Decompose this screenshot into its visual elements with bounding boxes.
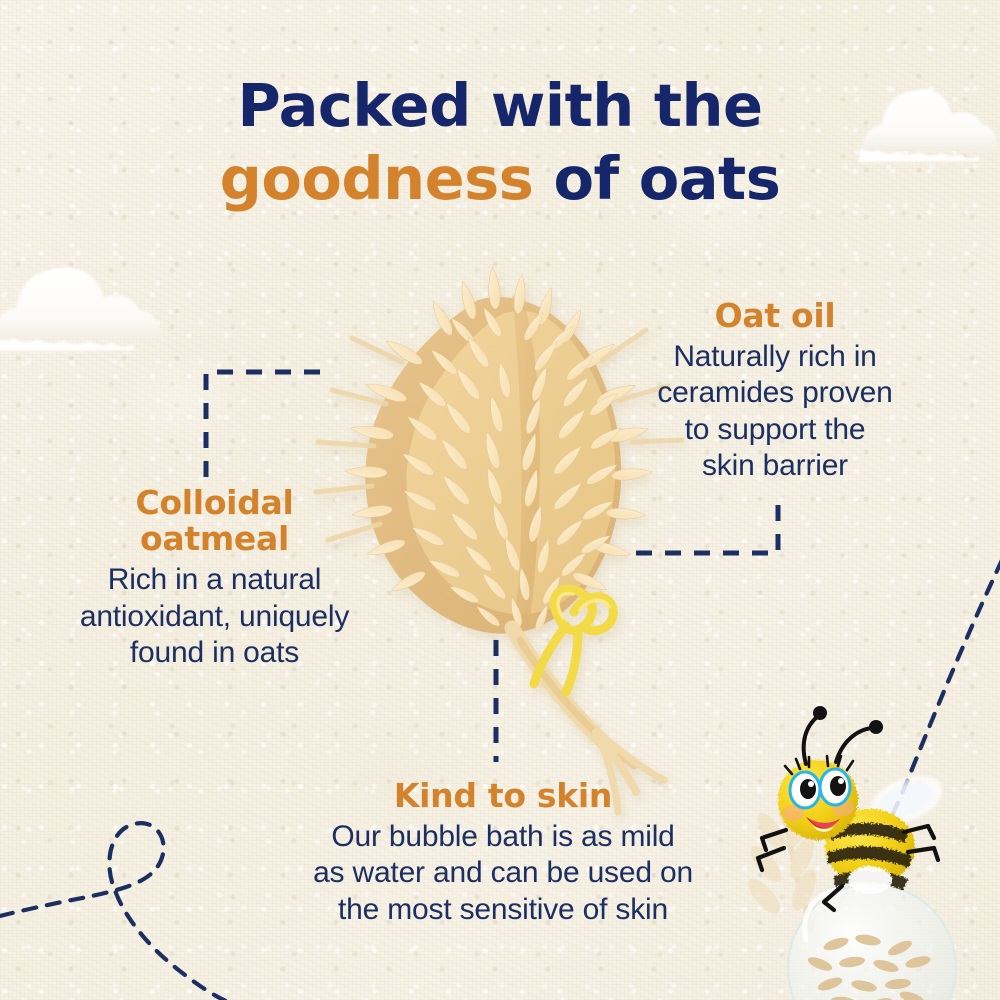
headline-goodness: goodness (220, 144, 534, 213)
callout-title-colloidal-oatmeal: Colloidal oatmeal (42, 485, 387, 556)
infographic-canvas: Packed with the goodness of oats Oat oil… (0, 0, 1000, 1000)
callout-title-line: oatmeal (42, 521, 387, 557)
callout-body-line: antioxidant, uniquely (42, 599, 387, 636)
callout-body-line: Rich in a natural (42, 562, 387, 599)
callout-title-oat-oil: Oat oil (610, 298, 940, 334)
callout-body-kind-to-skin: Our bubble bath is as mild as water and … (258, 819, 748, 929)
headline-line-2: goodness of oats (0, 149, 1000, 208)
callout-body-oat-oil: Naturally rich in ceramides proven to su… (610, 339, 940, 485)
callout-body-line: to support the (610, 412, 940, 449)
page-title: Packed with the goodness of oats (0, 76, 1000, 208)
headline-of-oats: of oats (533, 144, 780, 213)
callout-body-line: the most sensitive of skin (258, 892, 748, 929)
callout-body-line: Naturally rich in (610, 339, 940, 376)
callout-body-line: Our bubble bath is as mild (258, 819, 748, 856)
callout-title-line: Colloidal (42, 485, 387, 521)
callout-body-line: skin barrier (610, 448, 940, 485)
callout-colloidal-oatmeal: Colloidal oatmeal Rich in a natural anti… (42, 485, 387, 672)
callout-kind-to-skin: Kind to skin Our bubble bath is as mild … (258, 778, 748, 928)
text-layer: Packed with the goodness of oats Oat oil… (0, 0, 1000, 1000)
callout-oat-oil: Oat oil Naturally rich in ceramides prov… (610, 298, 940, 485)
headline-line-1: Packed with the (0, 76, 1000, 135)
callout-body-colloidal-oatmeal: Rich in a natural antioxidant, uniquely … (42, 562, 387, 672)
callout-body-line: as water and can be used on (258, 855, 748, 892)
callout-body-line: ceramides proven (610, 375, 940, 412)
callout-title-kind-to-skin: Kind to skin (258, 778, 748, 814)
callout-body-line: found in oats (42, 635, 387, 672)
